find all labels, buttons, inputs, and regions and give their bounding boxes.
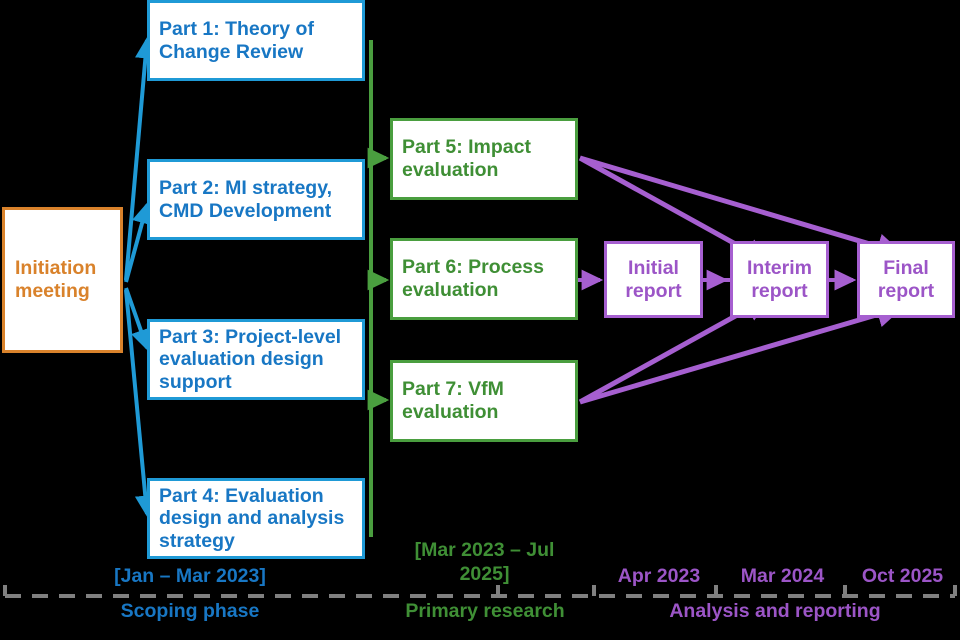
- part3-box[interactable]: Part 3: Project-level evaluation design …: [147, 319, 365, 400]
- final-report-box[interactable]: Final report: [857, 241, 955, 318]
- initiation-meeting-label: Initiation meeting: [15, 257, 110, 302]
- interim-report-box[interactable]: Interim report: [730, 241, 829, 318]
- part4-label: Part 4: Evaluation design and analysis s…: [159, 485, 354, 553]
- part2-box[interactable]: Part 2: MI strategy, CMD Development: [147, 159, 365, 240]
- initiation-to-parts-arrows: [126, 40, 147, 514]
- part1-label: Part 1: Theory of Change Review: [159, 18, 354, 63]
- scoping-phase-name: Scoping phase: [90, 600, 290, 623]
- part6-label: Part 6: Process evaluation: [402, 256, 566, 301]
- primary-research-dates-label: [Mar 2023 – Jul 2025]: [397, 538, 572, 587]
- part1-box[interactable]: Part 1: Theory of Change Review: [147, 0, 365, 81]
- scoping-to-research-bracket: [371, 40, 386, 537]
- part7-label: Part 7: VfM evaluation: [402, 378, 566, 423]
- interim-report-label: Interim report: [739, 257, 820, 302]
- final-report-date-label: Oct 2025: [850, 565, 955, 588]
- diagram-canvas: Initiation meeting Part 1: Theory of Cha…: [0, 0, 960, 640]
- analysis-reporting-phase-name: Analysis and reporting: [630, 600, 920, 623]
- initiation-meeting-box[interactable]: Initiation meeting: [2, 207, 123, 353]
- final-report-label: Final report: [866, 257, 946, 302]
- part5-box[interactable]: Part 5: Impact evaluation: [390, 118, 578, 200]
- initial-report-label: Initial report: [613, 257, 694, 302]
- part3-label: Part 3: Project-level evaluation design …: [159, 326, 354, 394]
- part2-label: Part 2: MI strategy, CMD Development: [159, 177, 354, 222]
- initial-report-box[interactable]: Initial report: [604, 241, 703, 318]
- part4-box[interactable]: Part 4: Evaluation design and analysis s…: [147, 478, 365, 559]
- interim-report-date-label: Mar 2024: [730, 565, 835, 588]
- part7-box[interactable]: Part 7: VfM evaluation: [390, 360, 578, 442]
- primary-research-phase-name: Primary research: [390, 600, 580, 623]
- initial-report-date-label: Apr 2023: [609, 565, 709, 588]
- part6-box[interactable]: Part 6: Process evaluation: [390, 238, 578, 320]
- part5-label: Part 5: Impact evaluation: [402, 136, 566, 181]
- scoping-dates-label: [Jan – Mar 2023]: [90, 565, 290, 588]
